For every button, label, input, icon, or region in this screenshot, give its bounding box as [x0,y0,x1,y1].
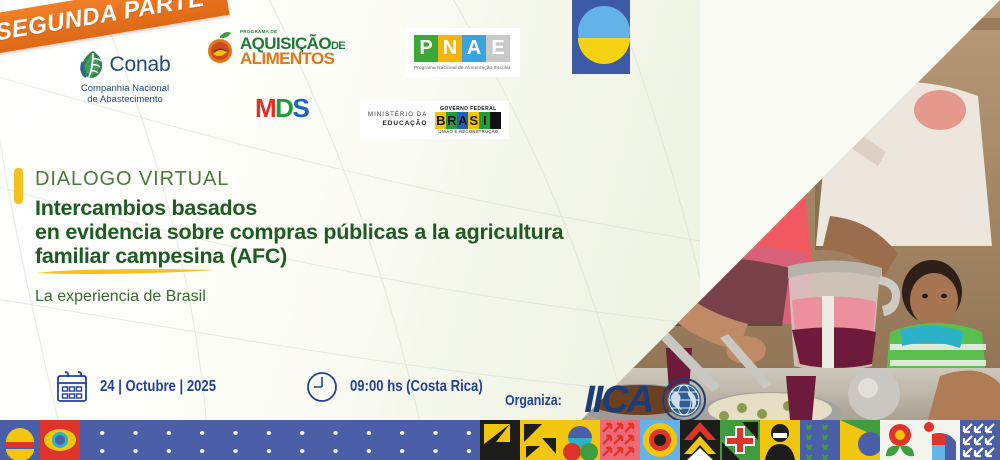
paa-logo: PROGRAMA DE AQUISIÇÃODE ALIMENTOS [205,30,345,67]
mds-letter-d: D [275,93,292,123]
clock-icon [305,370,339,404]
pnae-letter-p: P [414,35,438,62]
brush-underline-decoration [35,268,217,275]
accent-bar [14,168,23,204]
brasil-letter-1: R [446,112,457,129]
mec-line2: EDUCAÇÃO [368,120,427,128]
mds-letter-s: S [292,93,308,123]
mds-letter-m: M [255,93,275,123]
tile-brazil-flag [840,420,880,460]
tile-flower [880,420,920,460]
tile-arrows-yellow [520,420,560,460]
tile-wheat [800,420,840,460]
event-date-group: 24 | Octubre | 2025 [55,370,241,404]
headline-line-1: Intercambios basados [35,196,595,220]
tile-cross [720,420,760,460]
conab-subtitle-line1: Companhia Nacional [65,83,185,94]
logo-row-primary: Conab Companhia Nacional de Abasteciment… [60,28,530,98]
pnae-letter-e: E [486,35,510,62]
tile-dots-field [80,420,480,460]
tile-person [760,420,800,460]
poster-canvas: SEGUNDA PARTE Conab Companhia Nacional d… [0,0,1000,460]
tile-eye [40,420,80,460]
tile-arrows-blue [960,420,1000,460]
pnae-subtitle: Programa Nacional de Alimentação Escolar [414,65,511,70]
event-meta-row: 24 | Octubre | 2025 09:00 hs (Costa Rica… [55,370,512,404]
event-date-text: 24 | Octubre | 2025 [100,378,216,396]
footer-pattern-bar [0,420,1000,460]
headline-line-2: en evidencia sobre compras públicas a la… [35,220,595,244]
globe-emblem-icon [662,378,706,422]
headline-line-3: familiar campesina (AFC) [35,244,595,268]
conab-subtitle-line2: de Abastecimento [65,94,185,105]
page-title: Intercambios basados en evidencia sobre … [35,196,595,268]
tile-circles-trio [560,420,600,460]
pnae-logo: P N A E Programa Nacional de Alimentação… [405,28,520,77]
brasil-letter-0: B [435,112,446,129]
conab-logo: Conab Companhia Nacional de Abasteciment… [65,50,185,105]
tile-half-circle [0,420,40,460]
tile-arrows-red [600,420,640,460]
logo-row-secondary: MDS MINISTÉRIO DA EDUCAÇÃO GOVERNO FEDER… [235,95,535,145]
mec-gov-logo: MINISTÉRIO DA EDUCAÇÃO GOVERNO FEDERAL B… [360,101,509,139]
tile-house [920,420,960,460]
organizer-label: Organiza: [505,392,562,409]
brasil-letter-4: I [479,112,490,129]
tile-target [640,420,680,460]
brasil-letter-3: S [468,112,479,129]
mds-logo: MDS [255,95,308,121]
gov-federal-tagline: UNIÃO E RECONSTRUÇÃO [435,129,501,134]
tile-chevrons [680,420,720,460]
paa-line2: ALIMENTOS [240,50,345,67]
conab-wordmark: Conab [110,53,171,77]
pnae-letter-a: A [462,35,486,62]
calendar-icon [55,370,89,404]
pnae-letter-n: N [438,35,462,62]
tile-flag-black [480,420,520,460]
brasil-letter-5: L [490,112,501,129]
event-time-text: 09:00 hs (Costa Rica) [350,378,483,396]
brasil-wordmark: BRASIL [435,112,501,129]
subtitle-text: La experiencia de Brasil [35,288,206,306]
kicker-label: DIALOGO VIRTUAL [35,168,229,191]
mec-line1: MINISTÉRIO DA [368,112,427,120]
paa-fruit-icon [205,32,235,64]
event-time-group: 09:00 hs (Costa Rica) [305,370,512,404]
organizer-group: Organiza: IICA [505,378,706,422]
iica-wordmark: IICA [584,381,652,419]
conab-leaf-icon [80,50,106,80]
brasil-letter-2: A [457,112,468,129]
